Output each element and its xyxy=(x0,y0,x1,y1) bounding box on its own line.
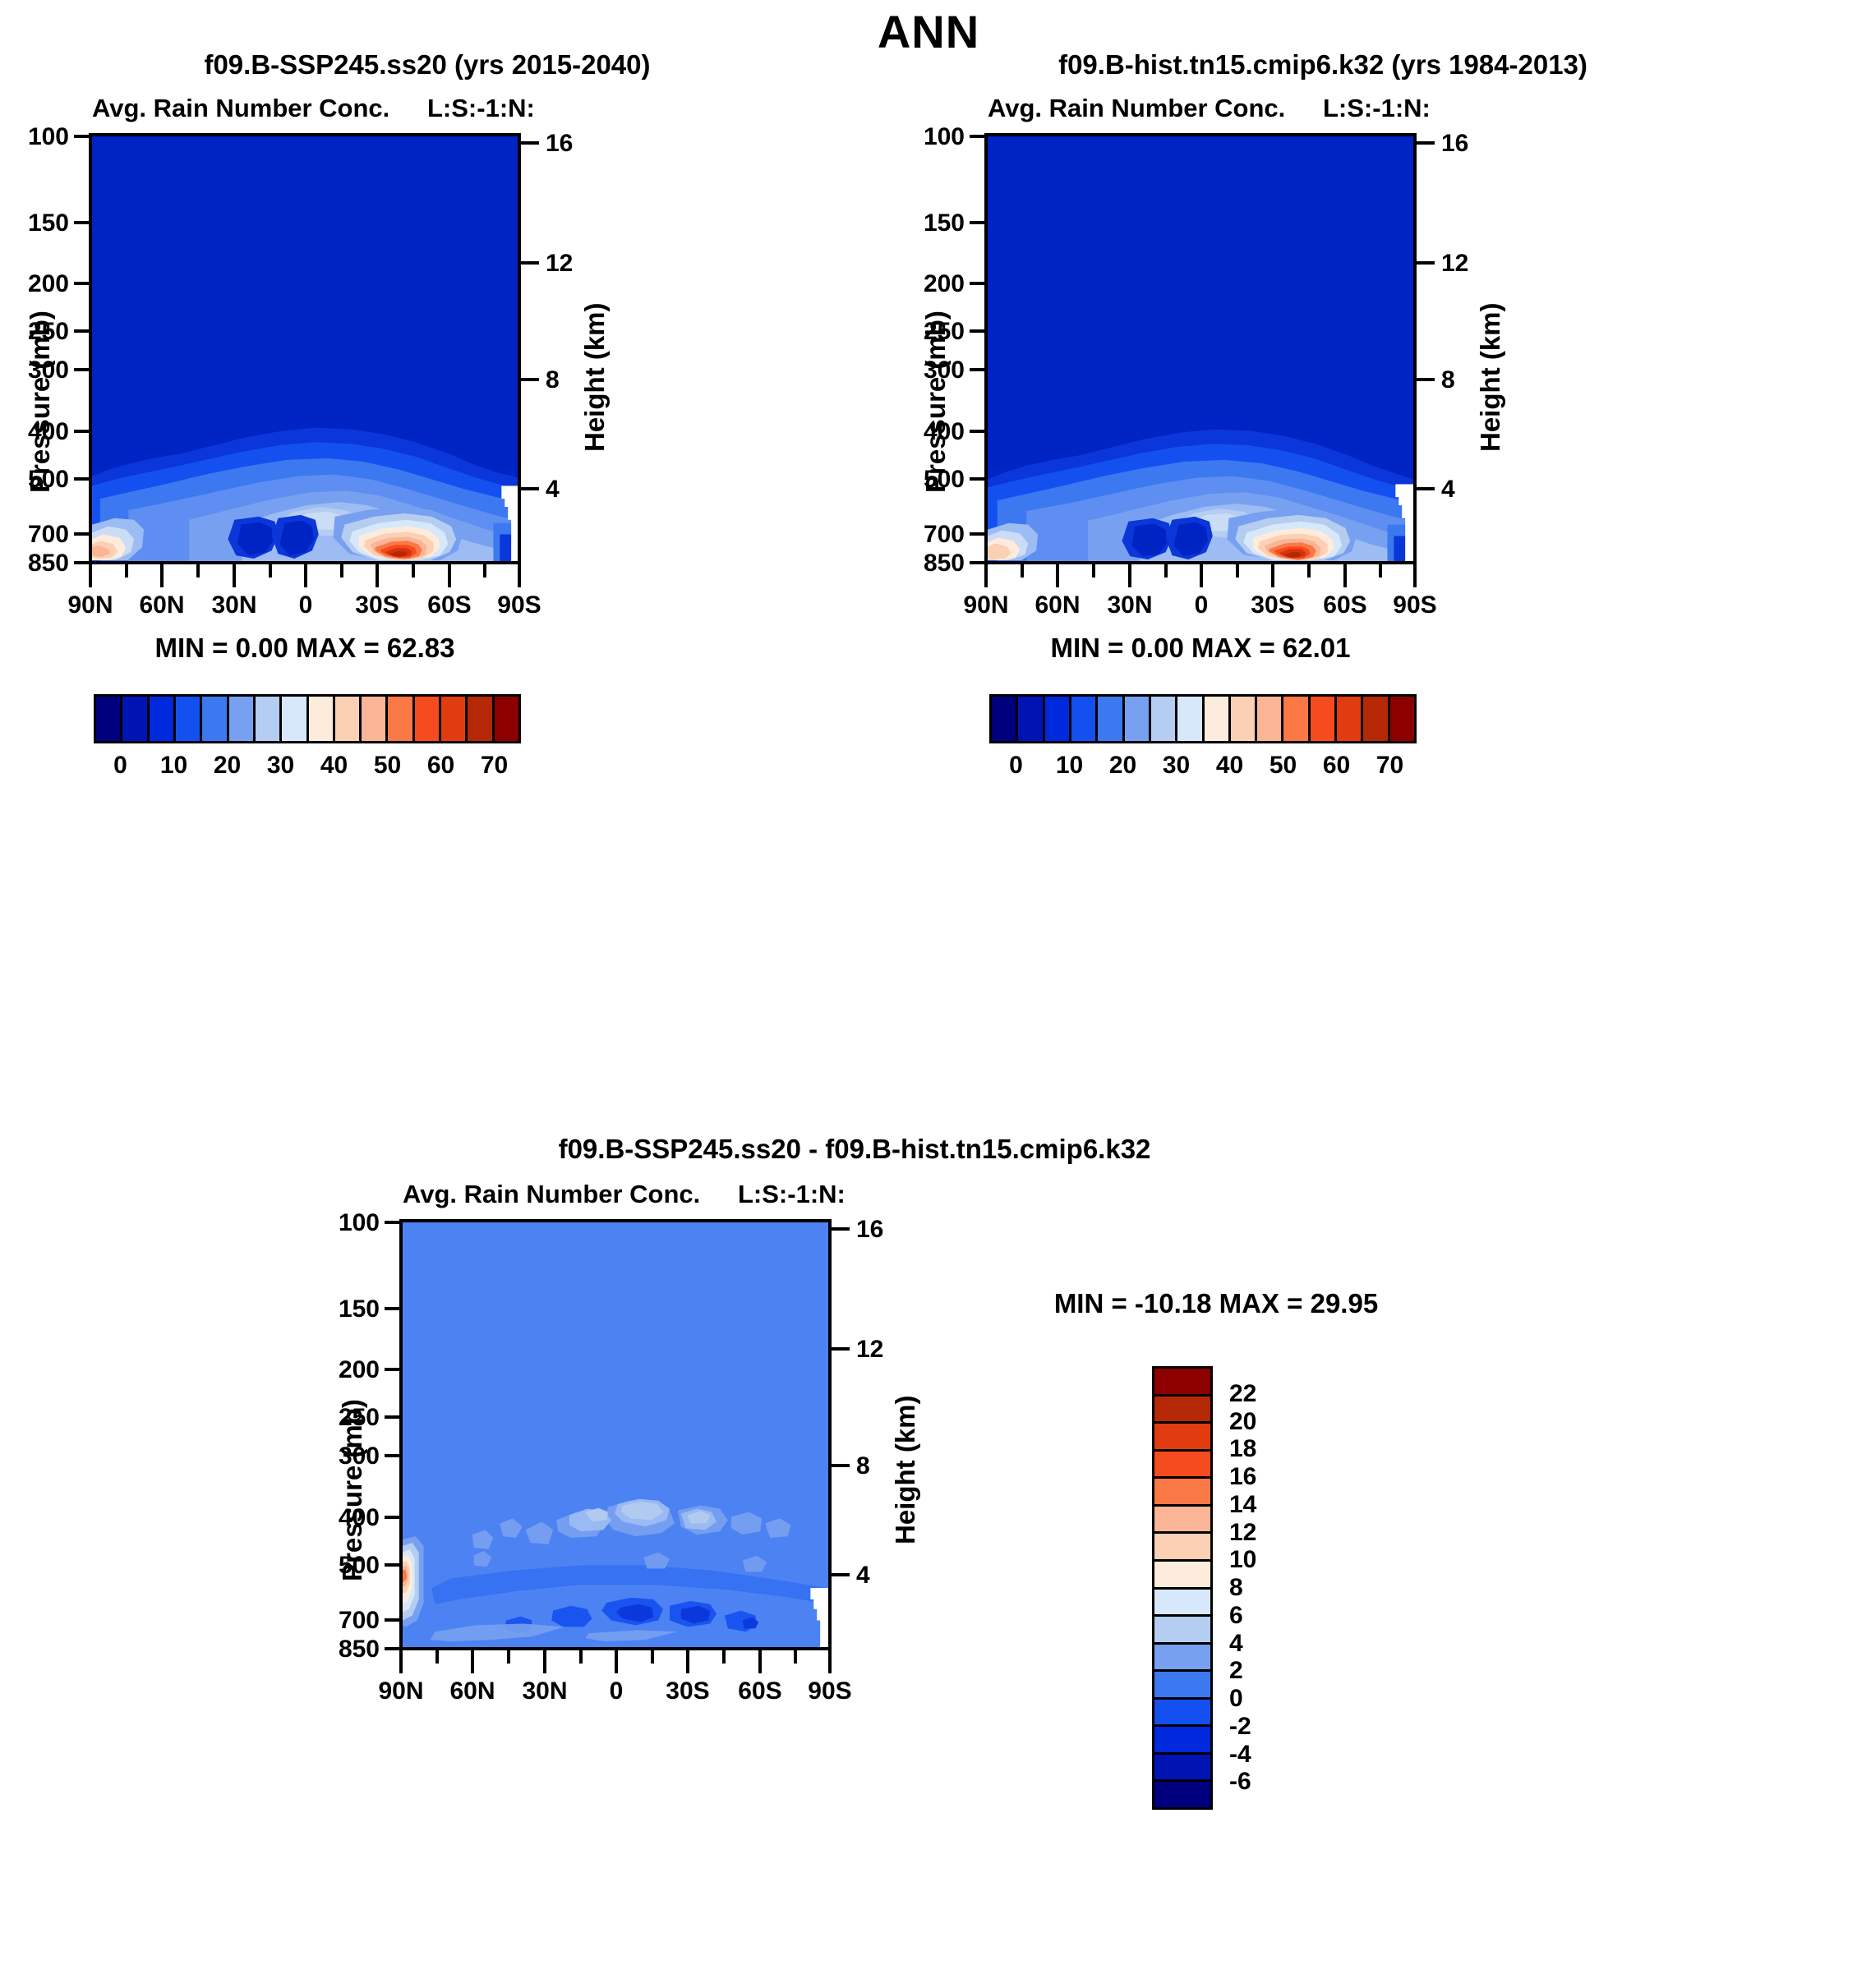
y-tick-label: 500 xyxy=(0,466,69,494)
y-tick-label: 300 xyxy=(896,357,965,384)
panel-top-right-subtitle-left: Avg. Rain Number Conc. xyxy=(988,94,1285,123)
y-tick-label: 700 xyxy=(896,521,965,549)
panel-top-left-minmax: MIN = 0.00 MAX = 62.83 xyxy=(89,633,521,664)
x-tick-label: 0 xyxy=(575,1677,657,1705)
colorbar-tick-label: 50 xyxy=(1269,752,1297,780)
colorbar-tick-label: 60 xyxy=(427,752,454,780)
colorbar-tick-label: 16 xyxy=(1229,1463,1256,1491)
y2-tick-label: 8 xyxy=(546,366,560,394)
panel-bottom-diff-subtitle-right: L:S:-1:N: xyxy=(738,1180,846,1209)
colorbar-tick-label: 40 xyxy=(1216,752,1243,780)
colorbar-tick-label: 0 xyxy=(1229,1685,1243,1713)
x-tick-label: 30S xyxy=(336,591,418,619)
panel-top-left: f09.B-SSP245.ss20 (yrs 2015-2040) Avg. R… xyxy=(0,49,855,1125)
panel-top-left-y2-axis-title: Height (km) xyxy=(579,303,611,453)
y-tick-label: 500 xyxy=(312,1552,380,1580)
panel-top-left-colorbar[interactable] xyxy=(94,694,521,743)
panel-bottom-diff-y2-axis-title: Height (km) xyxy=(890,1396,921,1545)
colorbar-tick-label: -2 xyxy=(1229,1713,1251,1741)
y-tick-label: 250 xyxy=(896,318,965,346)
panel-top-left-colorbar-labels: 0 10 20 30 40 50 60 70 xyxy=(94,752,521,785)
panel-bottom-diff-plot xyxy=(399,1219,832,1650)
panel-top-right-contours xyxy=(988,136,1413,561)
colorbar-tick-label: 10 xyxy=(1056,752,1083,780)
y2-tick-label: 16 xyxy=(546,130,573,158)
panel-top-right-subtitle-right: L:S:-1:N: xyxy=(1323,94,1431,123)
colorbar-tick-label: 0 xyxy=(113,752,127,780)
y2-tick-label: 12 xyxy=(856,1336,883,1364)
y-tick-label: 200 xyxy=(312,1356,380,1384)
panel-bottom-diff-title: f09.B-SSP245.ss20 - f09.B-hist.tn15.cmip… xyxy=(247,1134,1463,1165)
colorbar-tick-label: 60 xyxy=(1323,752,1350,780)
y2-tick-label: 12 xyxy=(546,250,573,278)
panel-top-right: f09.B-hist.tn15.cmip6.k32 (yrs 1984-2013… xyxy=(896,49,1750,1125)
colorbar-tick-label: 2 xyxy=(1229,1657,1243,1685)
y2-tick-label: 8 xyxy=(1441,366,1455,394)
x-tick-label: 30N xyxy=(193,591,275,619)
colorbar-tick-label: 6 xyxy=(1229,1602,1243,1630)
y2-tick-label: 12 xyxy=(1441,250,1468,278)
y-tick-label: 300 xyxy=(312,1443,380,1470)
colorbar-tick-label: 8 xyxy=(1229,1574,1243,1602)
y2-tick-label: 8 xyxy=(856,1452,870,1480)
colorbar-tick-label: 12 xyxy=(1229,1519,1256,1547)
panel-top-left-plot xyxy=(89,133,521,564)
panel-top-left-contours xyxy=(92,136,518,561)
y-tick-label: 100 xyxy=(896,123,965,151)
panel-bottom-diff-colorbar[interactable] xyxy=(1152,1366,1213,1810)
y-tick-label: 100 xyxy=(0,123,69,151)
colorbar-tick-label: 40 xyxy=(320,752,348,780)
y-tick-label: 300 xyxy=(0,357,69,384)
x-tick-label: 60N xyxy=(431,1677,514,1705)
x-tick-label: 30N xyxy=(504,1677,586,1705)
panel-bottom-diff-minmax: MIN = -10.18 MAX = 29.95 xyxy=(986,1288,1446,1319)
panel-bottom-diff-subtitle-left: Avg. Rain Number Conc. xyxy=(403,1180,700,1209)
colorbar-tick-label: 14 xyxy=(1229,1491,1256,1519)
panel-top-left-subtitle-left: Avg. Rain Number Conc. xyxy=(92,94,389,123)
x-tick-label: 60N xyxy=(121,591,203,619)
panel-top-right-colorbar-labels: 0 10 20 30 40 50 60 70 xyxy=(989,752,1417,785)
y2-tick-label: 16 xyxy=(1441,130,1468,158)
x-tick-label: 0 xyxy=(1160,591,1242,619)
panel-top-right-plot xyxy=(984,133,1417,564)
x-tick-label: 90S xyxy=(789,1677,871,1705)
y-tick-label: 850 xyxy=(312,1636,380,1664)
y-tick-label: 400 xyxy=(312,1504,380,1532)
y-tick-label: 200 xyxy=(896,270,965,298)
panel-bottom-diff-contours xyxy=(403,1222,828,1647)
x-tick-label: 0 xyxy=(265,591,347,619)
panel-top-right-y2-axis-title: Height (km) xyxy=(1475,303,1506,453)
y-tick-label: 850 xyxy=(896,550,965,578)
colorbar-tick-label: 22 xyxy=(1229,1380,1256,1408)
colorbar-tick-label: 70 xyxy=(481,752,508,780)
panel-top-right-minmax: MIN = 0.00 MAX = 62.01 xyxy=(984,633,1417,664)
x-tick-label: 90S xyxy=(1374,591,1456,619)
y-tick-label: 700 xyxy=(0,521,69,549)
y-tick-label: 250 xyxy=(312,1404,380,1432)
colorbar-tick-label: 70 xyxy=(1376,752,1403,780)
colorbar-tick-label: 30 xyxy=(267,752,294,780)
colorbar-tick-label: 18 xyxy=(1229,1435,1256,1463)
colorbar-tick-label: 20 xyxy=(1109,752,1136,780)
colorbar-tick-label: 10 xyxy=(160,752,187,780)
y-tick-label: 150 xyxy=(0,209,69,237)
y-tick-label: 100 xyxy=(312,1209,380,1237)
y-tick-label: 400 xyxy=(0,418,69,446)
colorbar-tick-label: 0 xyxy=(1009,752,1023,780)
y-tick-label: 150 xyxy=(312,1295,380,1323)
panel-top-right-title: f09.B-hist.tn15.cmip6.k32 (yrs 1984-2013… xyxy=(896,49,1750,81)
y2-tick-label: 16 xyxy=(856,1216,883,1244)
colorbar-tick-label: 50 xyxy=(374,752,401,780)
colorbar-tick-label: 30 xyxy=(1163,752,1190,780)
y-tick-label: 250 xyxy=(0,318,69,346)
y-tick-label: 500 xyxy=(896,466,965,494)
x-tick-label: 30S xyxy=(1232,591,1314,619)
panel-bottom-diff-colorbar-labels: 22 20 18 16 14 12 10 8 6 4 2 0 -2 -4 -6 xyxy=(1229,1366,1320,1810)
x-tick-label: 30N xyxy=(1089,591,1171,619)
panel-top-left-subtitle-right: L:S:-1:N: xyxy=(427,94,535,123)
y-tick-label: 200 xyxy=(0,270,69,298)
x-tick-label: 90N xyxy=(360,1677,442,1705)
y-tick-label: 850 xyxy=(0,550,69,578)
y-tick-label: 150 xyxy=(896,209,965,237)
colorbar-tick-label: 4 xyxy=(1229,1630,1243,1658)
x-tick-label: 90S xyxy=(478,591,560,619)
colorbar-tick-label: 10 xyxy=(1229,1546,1256,1574)
x-tick-label: 90N xyxy=(49,591,131,619)
colorbar-tick-label: -4 xyxy=(1229,1741,1251,1769)
colorbar-tick-label: 20 xyxy=(214,752,241,780)
panel-top-left-title: f09.B-SSP245.ss20 (yrs 2015-2040) xyxy=(0,49,855,81)
y2-tick-label: 4 xyxy=(1441,476,1455,504)
x-tick-label: 30S xyxy=(647,1677,729,1705)
panel-top-right-colorbar[interactable] xyxy=(989,694,1417,743)
colorbar-tick-label: -6 xyxy=(1229,1768,1251,1796)
x-tick-label: 90N xyxy=(945,591,1027,619)
y2-tick-label: 4 xyxy=(856,1562,870,1590)
y2-tick-label: 4 xyxy=(546,476,560,504)
x-tick-label: 60N xyxy=(1016,591,1099,619)
y-tick-label: 700 xyxy=(312,1607,380,1635)
colorbar-tick-label: 20 xyxy=(1229,1408,1256,1436)
panel-bottom-diff: f09.B-SSP245.ss20 - f09.B-hist.tn15.cmip… xyxy=(312,1134,1545,1988)
y-tick-label: 400 xyxy=(896,418,965,446)
